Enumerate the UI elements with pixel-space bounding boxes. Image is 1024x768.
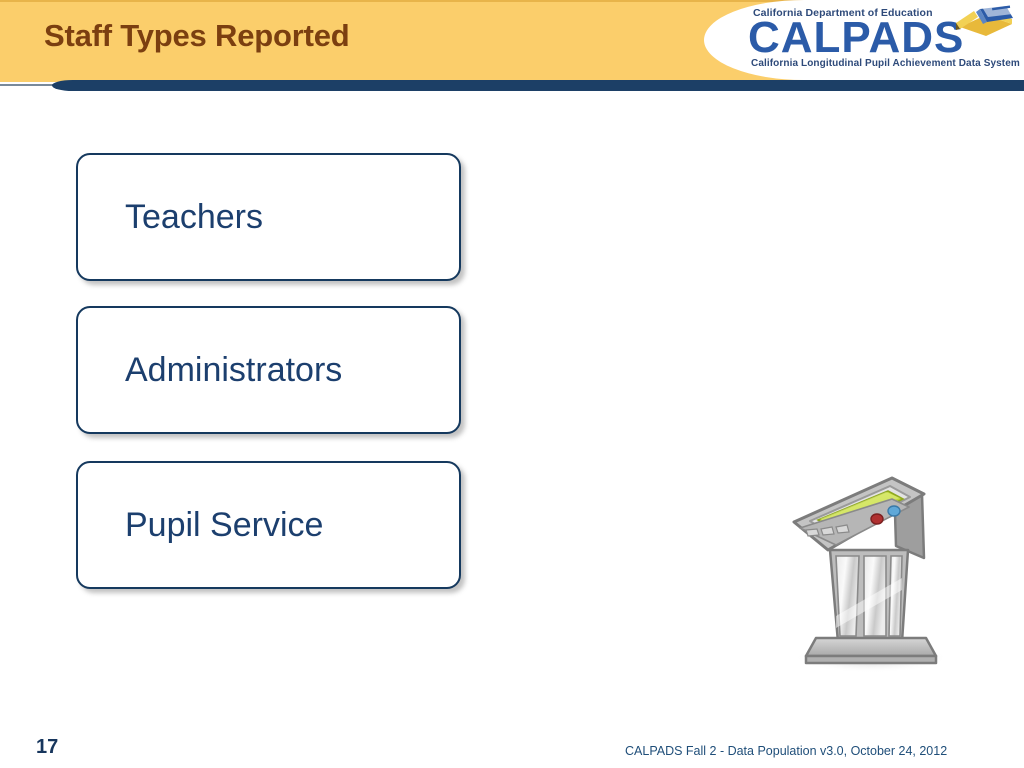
- book-pencil-icon: [956, 5, 1014, 39]
- information-kiosk-illustration: [776, 466, 966, 676]
- logo-tagline: California Longitudinal Pupil Achievemen…: [751, 58, 1020, 69]
- staff-type-label: Administrators: [78, 351, 342, 390]
- staff-type-label: Pupil Service: [78, 506, 323, 545]
- header-rule-bar: [78, 80, 1024, 91]
- footer-caption: CALPADS Fall 2 - Data Population v3.0, O…: [625, 744, 947, 758]
- calpads-logo: California Department of Education CALPA…: [748, 6, 1016, 76]
- staff-type-box-teachers[interactable]: Teachers: [76, 153, 461, 281]
- page-title: Staff Types Reported: [44, 18, 349, 54]
- staff-type-label: Teachers: [78, 198, 263, 237]
- header-rule-thin-tail: [0, 84, 60, 86]
- logo-wordmark: CALPADS: [748, 16, 964, 60]
- page-number: 17: [36, 736, 58, 759]
- slide-header: Staff Types Reported California Departme…: [0, 0, 1024, 82]
- staff-type-box-pupil-service[interactable]: Pupil Service: [76, 461, 461, 589]
- header-rule: [0, 80, 1024, 91]
- staff-type-box-administrators[interactable]: Administrators: [76, 306, 461, 434]
